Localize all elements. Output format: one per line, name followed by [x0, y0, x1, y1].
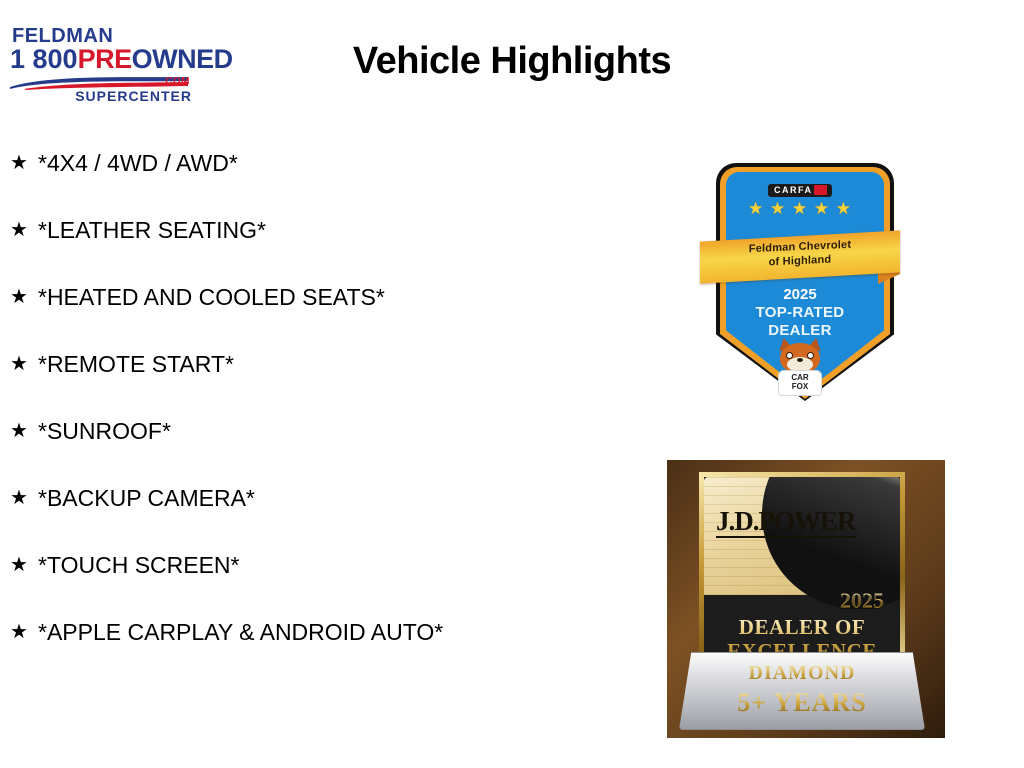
fox-shirt-line-1: CAR: [778, 373, 822, 382]
star-bullet-icon: ★: [10, 416, 38, 446]
star-bullet-icon: ★: [10, 483, 38, 513]
badge-award-title: TOP-RATED DEALER: [700, 304, 900, 340]
fox-tshirt: CAR FOX: [778, 370, 822, 396]
page-title: Vehicle Highlights: [0, 40, 1024, 83]
list-item: ★ *LEATHER SEATING*: [10, 215, 530, 246]
logo-tagline-text: SUPERCENTER: [75, 88, 192, 104]
list-item-label: *4X4 / 4WD / AWD*: [38, 148, 238, 179]
fox-shirt-line-2: FOX: [778, 382, 822, 391]
list-item-label: *REMOTE START*: [38, 349, 234, 380]
badge-star-rating-icon: ★ ★ ★ ★ ★: [748, 200, 852, 218]
award-year: 2025: [840, 589, 884, 613]
list-item: ★ *APPLE CARPLAY & ANDROID AUTO*: [10, 617, 530, 648]
award-title-line-1: DEALER OF: [704, 615, 900, 639]
list-item-label: *BACKUP CAMERA*: [38, 483, 255, 514]
vehicle-highlights-list: ★ *4X4 / 4WD / AWD* ★ *LEATHER SEATING* …: [10, 148, 530, 648]
list-item: ★ *TOUCH SCREEN*: [10, 550, 530, 581]
jdpower-dealer-of-excellence-award: J.D.POWER 2025 DEALER OF EXCELLENCE DIAM…: [667, 460, 945, 738]
carfax-top-rated-dealer-badge: CARFAX ★ ★ ★ ★ ★ Feldman Chevrolet of Hi…: [700, 166, 900, 401]
carfax-wordmark-accent: X: [813, 185, 827, 195]
carfax-wordmark-icon: CARFAX: [768, 184, 832, 197]
star-bullet-icon: ★: [10, 550, 38, 580]
award-title-line-1: TOP-RATED: [700, 304, 900, 322]
star-bullet-icon: ★: [10, 148, 38, 178]
award-duration: 5+ YEARS: [679, 688, 925, 717]
list-item: ★ *4X4 / 4WD / AWD*: [10, 148, 530, 179]
fox-nose: [797, 358, 803, 362]
star-bullet-icon: ★: [10, 282, 38, 312]
list-item-label: *LEATHER SEATING*: [38, 215, 266, 246]
car-fox-mascot-icon: CAR FOX: [774, 338, 826, 396]
list-item: ★ *HEATED AND COOLED SEATS*: [10, 282, 530, 313]
star-bullet-icon: ★: [10, 215, 38, 245]
carfax-wordmark-text: CARFA: [774, 185, 813, 195]
list-item-label: *SUNROOF*: [38, 416, 171, 447]
award-tier: DIAMOND: [679, 662, 925, 685]
list-item: ★ *REMOTE START*: [10, 349, 530, 380]
list-item: ★ *SUNROOF*: [10, 416, 530, 447]
list-item-label: *HEATED AND COOLED SEATS*: [38, 282, 385, 313]
award-base: DIAMOND 5+ YEARS: [679, 652, 925, 730]
badge-year: 2025: [700, 286, 900, 303]
jdpower-brand-text: J.D.POWER: [716, 507, 856, 538]
list-item: ★ *BACKUP CAMERA*: [10, 483, 530, 514]
list-item-label: *TOUCH SCREEN*: [38, 550, 240, 581]
star-bullet-icon: ★: [10, 349, 38, 379]
list-item-label: *APPLE CARPLAY & ANDROID AUTO*: [38, 617, 443, 648]
award-plaque: J.D.POWER 2025 DEALER OF EXCELLENCE: [699, 472, 905, 668]
star-bullet-icon: ★: [10, 617, 38, 647]
